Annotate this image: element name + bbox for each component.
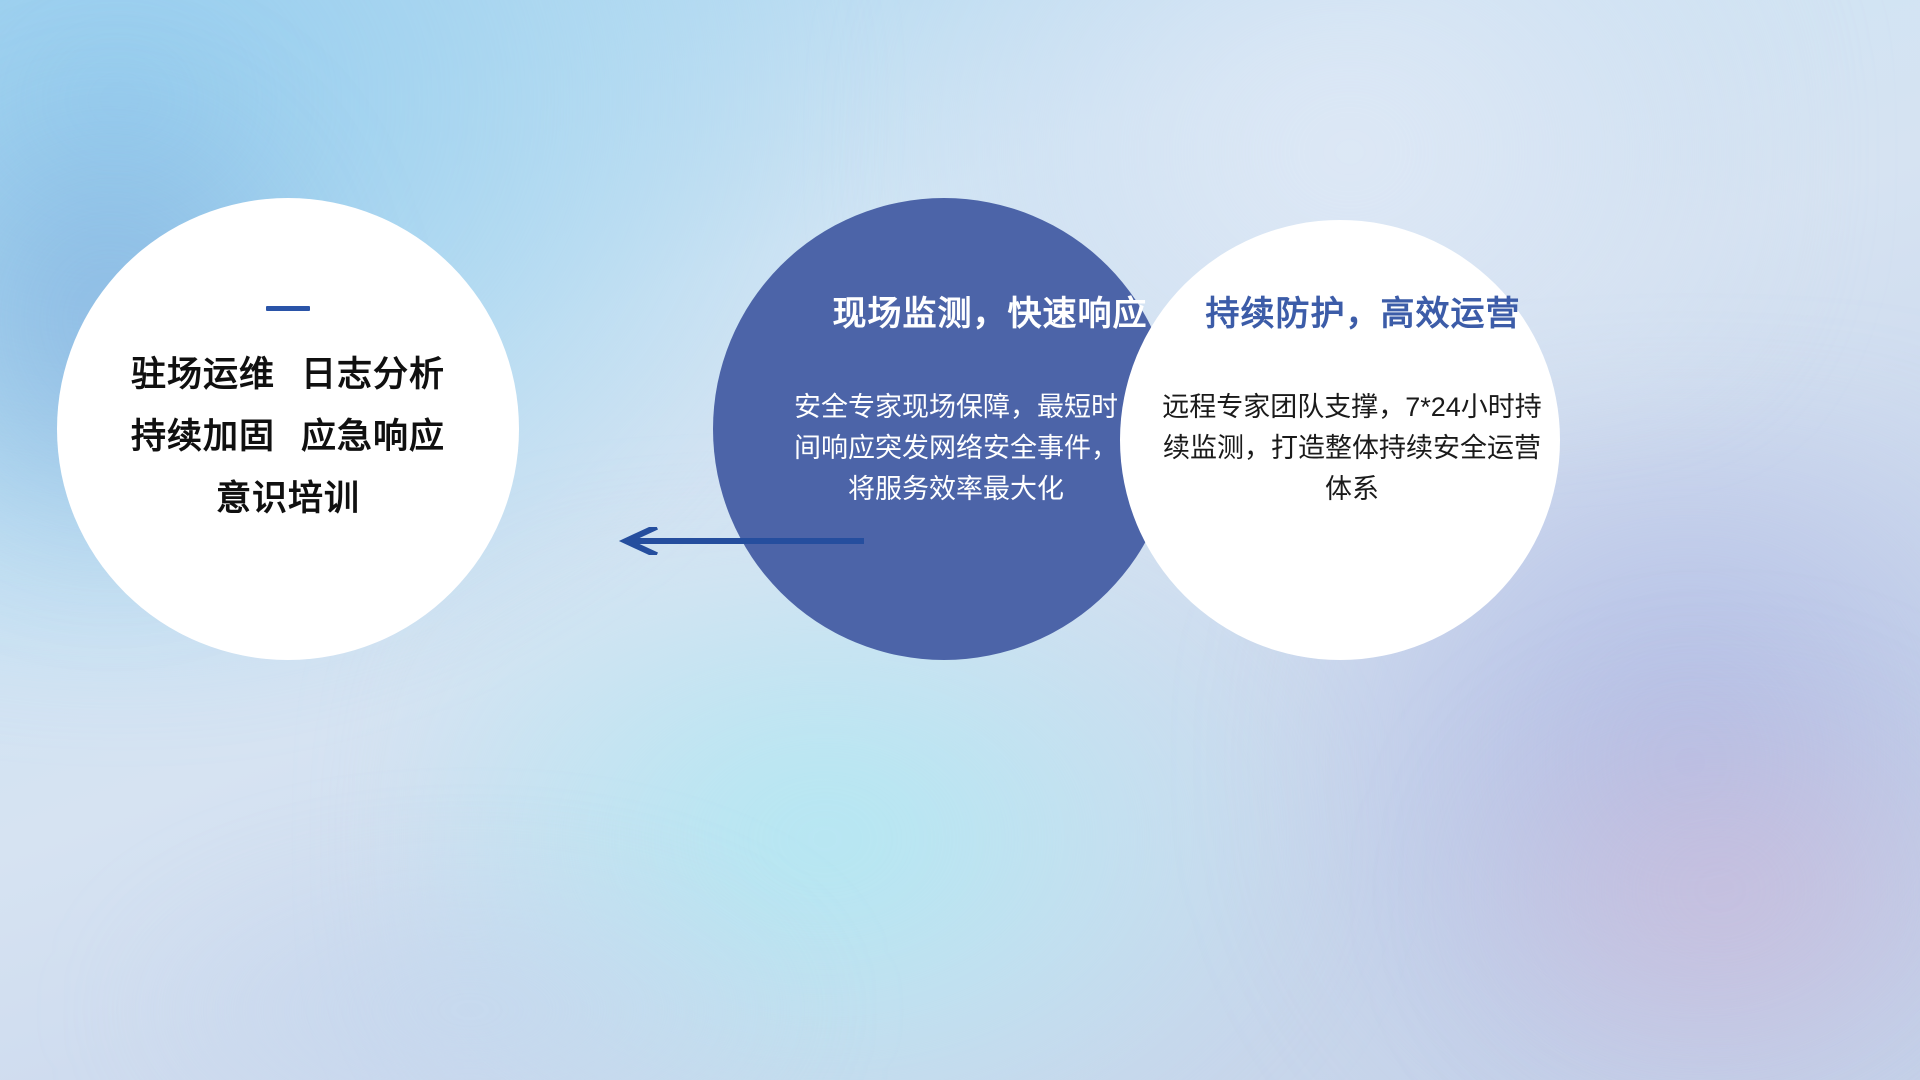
middle-circle-title: 现场监测，快速响应: [833, 296, 1148, 333]
left-tag-4: 应急响应: [301, 417, 445, 456]
left-circle-content: 驻场运维日志分析 持续加固应急响应 意识培训: [57, 198, 519, 660]
left-circle-line-3: 意识培训: [216, 481, 360, 516]
right-circle-body: 远程专家团队支撑，7*24小时持续监测，打造整体持续安全运营体系: [1151, 387, 1553, 510]
middle-circle-body: 安全专家现场保障，最短时间响应突发网络安全事件，将服务效率最大化: [791, 387, 1121, 510]
left-tag-2: 日志分析: [301, 355, 445, 394]
left-tag-1: 驻场运维: [131, 355, 275, 394]
slide-canvas: 驻场运维日志分析 持续加固应急响应 意识培训 现场监测，快速响应 安全专家现场保…: [0, 0, 1920, 1080]
background-glow-bottom-pink: [1460, 680, 1920, 1080]
middle-circle-content: 现场监测，快速响应 安全专家现场保障，最短时间响应突发网络安全事件，将服务效率最…: [713, 198, 1175, 660]
left-circle-line-1: 驻场运维日志分析: [131, 357, 445, 392]
left-circle-line-2: 持续加固应急响应: [131, 419, 445, 454]
left-tag-3: 持续加固: [131, 417, 275, 456]
right-circle-title: 持续防护，高效运营: [1206, 296, 1521, 333]
title-divider-rule: [266, 306, 310, 311]
background-glow-bottom-left: [120, 860, 820, 1080]
left-tag-5: 意识培训: [216, 479, 360, 518]
right-circle-content: 持续防护，高效运营 远程专家团队支撑，7*24小时持续监测，打造整体持续安全运营…: [1120, 220, 1560, 660]
